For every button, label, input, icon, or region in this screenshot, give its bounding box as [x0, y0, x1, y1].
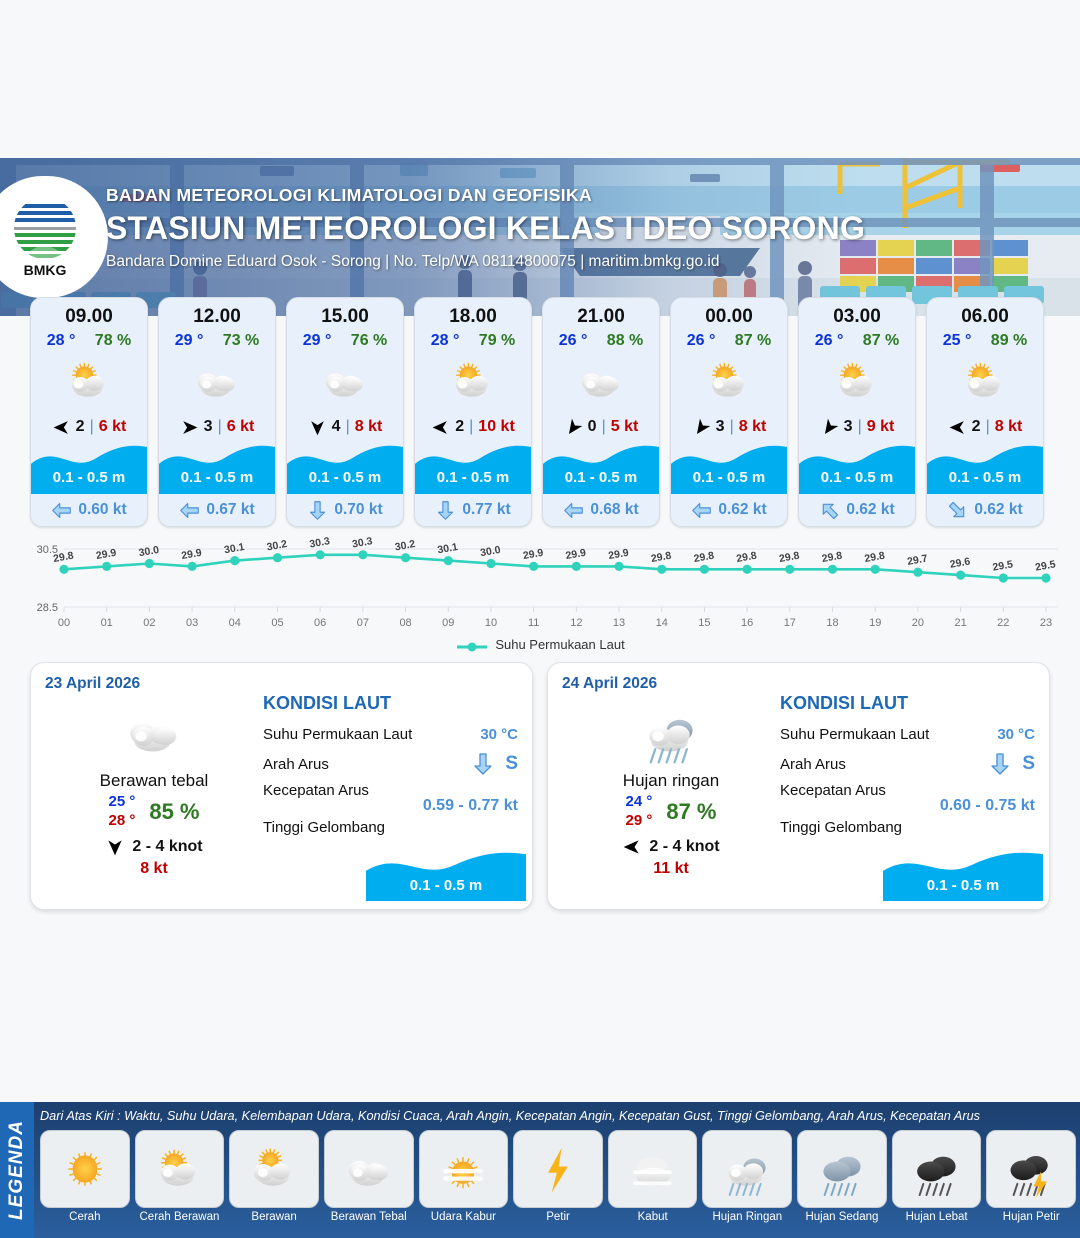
chart-legend: Suhu Permukaan Laut: [0, 637, 1080, 652]
current-direction-value: S: [1022, 753, 1035, 775]
current-direction-arrow-icon: [988, 752, 1012, 776]
card-time: 21.00: [543, 298, 659, 328]
legend-item-label: Udara Kabur: [419, 1211, 509, 1223]
card-current-row: 0.70 kt: [287, 494, 403, 526]
panel-date: 24 April 2026: [562, 675, 1035, 693]
wind-speed: 6 kt: [227, 418, 255, 436]
wave-height: 0.1 - 0.5 m: [927, 469, 1043, 486]
panel-humidity: 87 %: [666, 799, 716, 825]
weather-sun-cloud-icon: [415, 350, 531, 412]
card-current-row: 0.77 kt: [415, 494, 531, 526]
svg-text:30.2: 30.2: [266, 538, 288, 553]
card-wave-block: 0.1 - 0.5 m: [543, 442, 659, 494]
panel-condition: Berawan tebal: [49, 771, 259, 791]
wind-speed: 8 kt: [995, 418, 1023, 436]
hourly-card: 09.00 28 ° 78 % 2 | 6 kt 0.1 - 0.5 m 0.6…: [30, 297, 148, 527]
sea-conditions-title: KONDISI LAUT: [780, 693, 1035, 714]
weather-sun-cloud-icon: [671, 350, 787, 412]
legend-item: Petir: [513, 1130, 603, 1223]
svg-text:13: 13: [613, 617, 625, 629]
wind-speed: 8 kt: [739, 418, 767, 436]
svg-text:29.7: 29.7: [906, 553, 928, 568]
wind-speed: 9 kt: [867, 418, 895, 436]
wind-direction-arrow-icon: [105, 837, 125, 857]
chart-legend-marker: [455, 640, 489, 650]
svg-text:19: 19: [869, 617, 881, 629]
current-direction-value: S: [505, 753, 518, 775]
card-temperature: 28 °: [431, 332, 460, 350]
card-wave-block: 0.1 - 0.5 m: [415, 442, 531, 494]
svg-text:28.5: 28.5: [37, 602, 58, 614]
card-temperature: 26 °: [815, 332, 844, 350]
svg-text:10: 10: [485, 617, 497, 629]
card-temp-hum-row: 26 ° 87 %: [799, 328, 915, 350]
legend-item: Udara Kabur: [419, 1130, 509, 1223]
wind-direction-value: 3: [716, 418, 725, 436]
wave-height: 0.1 - 0.5 m: [159, 469, 275, 486]
panel-gust: 8 kt: [49, 860, 259, 878]
card-time: 09.00: [31, 298, 147, 328]
current-speed-label: Kecepatan Arus: [263, 782, 369, 799]
wind-direction-value: 2: [455, 418, 464, 436]
hourly-card: 03.00 26 ° 87 % 3 | 9 kt 0.1 - 0.5 m 0.6…: [798, 297, 916, 527]
wind-separator: |: [986, 418, 990, 436]
wind-separator: |: [90, 418, 94, 436]
legend-item-label: Hujan Petir: [986, 1211, 1076, 1223]
panel-temp-min: 24 °: [625, 793, 652, 812]
panel-temp-column: 24 ° 29 °: [625, 793, 652, 831]
current-speed-block: Kecepatan Arus 0.59 - 0.77 kt: [263, 779, 518, 815]
panel-date: 23 April 2026: [45, 675, 518, 693]
card-time: 03.00: [799, 298, 915, 328]
panel-wave-box: 0.1 - 0.5 m: [366, 849, 526, 901]
wave-label: Tinggi Gelombang: [780, 819, 902, 836]
card-time: 15.00: [287, 298, 403, 328]
current-speed: 0.68 kt: [590, 501, 638, 519]
card-temperature: 28 °: [47, 332, 76, 350]
legend-item-label: Berawan Tebal: [324, 1211, 414, 1223]
svg-text:29.9: 29.9: [95, 547, 117, 562]
card-humidity: 87 %: [863, 332, 899, 350]
wind-speed: 5 kt: [611, 418, 639, 436]
legend-item: Hujan Lebat: [892, 1130, 982, 1223]
card-humidity: 78 %: [95, 332, 131, 350]
card-temp-hum-row: 25 ° 89 %: [927, 328, 1043, 350]
sst-label: Suhu Permukaan Laut: [263, 726, 412, 743]
card-time: 12.00: [159, 298, 275, 328]
svg-text:29.8: 29.8: [52, 550, 74, 565]
wave-height: 0.1 - 0.5 m: [31, 469, 147, 486]
station-name: STASIUN METEOROLOGI KELAS I DEO SORONG: [106, 210, 986, 247]
legend-item: Cerah: [40, 1130, 130, 1223]
legend-bar: LEGENDA Dari Atas Kiri : Waktu, Suhu Uda…: [0, 1102, 1080, 1238]
panel-gust: 11 kt: [566, 860, 776, 878]
panel-sea-block: KONDISI LAUT Suhu Permukaan Laut 30 °C A…: [780, 693, 1035, 839]
sst-row: Suhu Permukaan Laut 30 °C: [263, 719, 518, 749]
svg-text:29.8: 29.8: [864, 550, 886, 565]
panel-wind-range: 2 - 4 knot: [649, 838, 719, 856]
svg-text:29.5: 29.5: [1034, 558, 1056, 573]
current-direction-arrow-icon: [51, 500, 72, 521]
current-direction-label: Arah Arus: [780, 756, 846, 773]
svg-text:29.9: 29.9: [180, 547, 202, 562]
sst-value: 30 °C: [480, 726, 518, 743]
svg-text:30.2: 30.2: [394, 538, 416, 553]
wave-height: 0.1 - 0.5 m: [415, 469, 531, 486]
wind-direction-arrow-icon: [431, 418, 450, 437]
card-wind-row: 2 | 6 kt: [31, 412, 147, 442]
current-speed: 0.60 kt: [78, 501, 126, 519]
card-temp-hum-row: 29 ° 73 %: [159, 328, 275, 350]
header-banner: BMKG BADAN METEOROLOGI KLIMATOLOGI DAN G…: [0, 158, 1080, 316]
svg-text:01: 01: [101, 617, 113, 629]
legend-item: Berawan Tebal: [324, 1130, 414, 1223]
panel-wave-box: 0.1 - 0.5 m: [883, 849, 1043, 901]
current-direction-row: Arah Arus S: [263, 749, 518, 779]
wind-direction-arrow-icon: [692, 418, 711, 437]
hourly-card: 12.00 29 ° 73 % 3 | 6 kt 0.1 - 0.5 m 0.6…: [158, 297, 276, 527]
current-speed-label: Kecepatan Arus: [780, 782, 886, 799]
card-wind-row: 2 | 8 kt: [927, 412, 1043, 442]
weather-sun-cloud-icon: [31, 350, 147, 412]
card-current-row: 0.62 kt: [927, 494, 1043, 526]
card-temperature: 29 °: [175, 332, 204, 350]
card-temperature: 29 °: [303, 332, 332, 350]
daily-panel: 24 April 2026 Hujan ringan 24 ° 29 ° 87 …: [547, 662, 1050, 910]
card-temp-hum-row: 28 ° 78 %: [31, 328, 147, 350]
card-temperature: 26 °: [687, 332, 716, 350]
card-temperature: 25 °: [943, 332, 972, 350]
sst-row: Suhu Permukaan Laut 30 °C: [780, 719, 1035, 749]
card-wind-row: 3 | 6 kt: [159, 412, 275, 442]
current-direction-arrow-icon: [179, 500, 200, 521]
svg-text:04: 04: [229, 617, 241, 629]
wind-direction-arrow-icon: [180, 418, 199, 437]
wind-direction-arrow-icon: [564, 418, 583, 437]
svg-text:00: 00: [58, 617, 70, 629]
current-direction-row: Arah Arus S: [780, 749, 1035, 779]
weather-bolt-icon: [513, 1130, 603, 1208]
current-direction-arrow-icon: [563, 500, 584, 521]
svg-text:06: 06: [314, 617, 326, 629]
wind-speed: 10 kt: [478, 418, 514, 436]
weather-cloud-icon: [159, 350, 275, 412]
wind-separator: |: [858, 418, 862, 436]
panel-wave-value: 0.1 - 0.5 m: [366, 877, 526, 894]
svg-text:09: 09: [442, 617, 454, 629]
card-wave-block: 0.1 - 0.5 m: [287, 442, 403, 494]
chart-legend-label: Suhu Permukaan Laut: [495, 637, 624, 652]
svg-text:29.9: 29.9: [607, 547, 629, 562]
svg-text:29.9: 29.9: [522, 547, 544, 562]
weather-rain-heavy-icon: [892, 1130, 982, 1208]
card-time: 06.00: [927, 298, 1043, 328]
bmkg-logo-text: BMKG: [24, 262, 67, 278]
wind-direction-value: 2: [76, 418, 85, 436]
wind-direction-arrow-icon: [622, 837, 642, 857]
legend-item: Hujan Petir: [986, 1130, 1076, 1223]
svg-text:29.8: 29.8: [778, 550, 800, 565]
wind-direction-value: 0: [588, 418, 597, 436]
current-direction-label: Arah Arus: [263, 756, 329, 773]
weather-cloud-icon: [324, 1130, 414, 1208]
card-temperature: 26 °: [559, 332, 588, 350]
panel-temp-max: 28 °: [108, 812, 135, 831]
card-current-row: 0.60 kt: [31, 494, 147, 526]
sst-chart: 30.528.529.80029.90130.00229.90330.10430…: [16, 535, 1064, 635]
card-humidity: 73 %: [223, 332, 259, 350]
card-time: 00.00: [671, 298, 787, 328]
svg-text:29.8: 29.8: [693, 550, 715, 565]
svg-text:29.6: 29.6: [949, 555, 971, 570]
wave-label-row: Tinggi Gelombang: [780, 815, 1035, 839]
panel-left-block: Hujan ringan 24 ° 29 ° 87 % 2 - 4 knot 1…: [566, 697, 776, 878]
panel-wind-row: 2 - 4 knot: [49, 837, 259, 857]
legend-item-label: Petir: [513, 1211, 603, 1223]
current-speed-value: 0.60 - 0.75 kt: [780, 797, 1035, 815]
card-current-row: 0.68 kt: [543, 494, 659, 526]
current-speed: 0.70 kt: [334, 501, 382, 519]
card-current-row: 0.62 kt: [799, 494, 915, 526]
svg-text:12: 12: [570, 617, 582, 629]
card-wave-block: 0.1 - 0.5 m: [927, 442, 1043, 494]
legend-item-label: Berawan: [229, 1211, 319, 1223]
bmkg-logo-mark: [13, 196, 77, 260]
legend-icon-row: Cerah Cerah Berawan Berawan Berawan Teba…: [40, 1130, 1076, 1223]
wind-direction-arrow-icon: [948, 418, 967, 437]
legend-item: Kabut: [608, 1130, 698, 1223]
weather-fog-icon: [608, 1130, 698, 1208]
panel-temp-max: 29 °: [625, 812, 652, 831]
hourly-card: 06.00 25 ° 89 % 2 | 8 kt 0.1 - 0.5 m 0.6…: [926, 297, 1044, 527]
card-humidity: 76 %: [351, 332, 387, 350]
wind-direction-arrow-icon: [52, 418, 71, 437]
svg-text:22: 22: [997, 617, 1009, 629]
wave-label-row: Tinggi Gelombang: [263, 815, 518, 839]
card-temp-hum-row: 28 ° 79 %: [415, 328, 531, 350]
legend-item-label: Hujan Sedang: [797, 1211, 887, 1223]
card-wave-block: 0.1 - 0.5 m: [799, 442, 915, 494]
weather-cloud-icon: [543, 350, 659, 412]
panel-temps-row: 25 ° 28 ° 85 %: [49, 793, 259, 831]
hourly-card: 15.00 29 ° 76 % 4 | 8 kt 0.1 - 0.5 m 0.7…: [286, 297, 404, 527]
weather-cloud-icon: [49, 697, 259, 767]
svg-text:30.3: 30.3: [351, 535, 373, 550]
card-humidity: 87 %: [735, 332, 771, 350]
current-direction-value-wrap: S: [988, 752, 1035, 776]
wind-direction-value: 3: [204, 418, 213, 436]
svg-text:02: 02: [143, 617, 155, 629]
svg-text:21: 21: [954, 617, 966, 629]
svg-text:29.8: 29.8: [821, 550, 843, 565]
card-wave-block: 0.1 - 0.5 m: [671, 442, 787, 494]
card-wind-row: 4 | 8 kt: [287, 412, 403, 442]
svg-text:30.0: 30.0: [479, 544, 501, 559]
current-direction-arrow-icon: [435, 500, 456, 521]
svg-text:30.0: 30.0: [138, 544, 160, 559]
svg-text:30.1: 30.1: [223, 541, 245, 556]
legend-side-label: LEGENDA: [0, 1102, 34, 1238]
wind-direction-arrow-icon: [308, 418, 327, 437]
panel-temps-row: 24 ° 29 ° 87 %: [566, 793, 776, 831]
card-wave-block: 0.1 - 0.5 m: [159, 442, 275, 494]
card-humidity: 79 %: [479, 332, 515, 350]
svg-text:29.9: 29.9: [565, 547, 587, 562]
wind-speed: 8 kt: [355, 418, 383, 436]
svg-text:29.8: 29.8: [736, 550, 758, 565]
legend-side-text: LEGENDA: [6, 1120, 28, 1220]
wave-height: 0.1 - 0.5 m: [799, 469, 915, 486]
svg-text:20: 20: [912, 617, 924, 629]
panel-sea-block: KONDISI LAUT Suhu Permukaan Laut 30 °C A…: [263, 693, 518, 839]
panel-condition: Hujan ringan: [566, 771, 776, 791]
svg-text:29.8: 29.8: [650, 550, 672, 565]
card-temp-hum-row: 26 ° 88 %: [543, 328, 659, 350]
card-current-row: 0.62 kt: [671, 494, 787, 526]
panel-wind-range: 2 - 4 knot: [132, 838, 202, 856]
svg-text:29.5: 29.5: [992, 558, 1014, 573]
current-direction-arrow-icon: [471, 752, 495, 776]
svg-text:16: 16: [741, 617, 753, 629]
panel-temp-min: 25 °: [108, 793, 135, 812]
card-time: 18.00: [415, 298, 531, 328]
svg-text:18: 18: [826, 617, 838, 629]
current-speed: 0.62 kt: [974, 501, 1022, 519]
wave-height: 0.1 - 0.5 m: [543, 469, 659, 486]
card-humidity: 88 %: [607, 332, 643, 350]
svg-text:11: 11: [528, 617, 539, 629]
card-wind-row: 0 | 5 kt: [543, 412, 659, 442]
svg-text:08: 08: [399, 617, 411, 629]
card-wave-block: 0.1 - 0.5 m: [31, 442, 147, 494]
svg-text:30.3: 30.3: [309, 535, 331, 550]
wind-direction-arrow-icon: [820, 418, 839, 437]
weather-sun-cloud-icon: [799, 350, 915, 412]
current-speed: 0.77 kt: [462, 501, 510, 519]
svg-text:03: 03: [186, 617, 198, 629]
hourly-forecast-row: 09.00 28 ° 78 % 2 | 6 kt 0.1 - 0.5 m 0.6…: [0, 297, 1080, 527]
legend-item-label: Cerah: [40, 1211, 130, 1223]
current-speed: 0.62 kt: [718, 501, 766, 519]
svg-text:15: 15: [698, 617, 710, 629]
current-direction-arrow-icon: [947, 500, 968, 521]
panel-wind-row: 2 - 4 knot: [566, 837, 776, 857]
current-direction-arrow-icon: [819, 500, 840, 521]
weather-haze-icon: [419, 1130, 509, 1208]
wind-direction-value: 4: [332, 418, 341, 436]
card-wind-row: 3 | 9 kt: [799, 412, 915, 442]
wind-separator: |: [730, 418, 734, 436]
weather-sun-cloud-icon: [135, 1130, 225, 1208]
wave-height: 0.1 - 0.5 m: [671, 469, 787, 486]
weather-sun-cloud-more-icon: [229, 1130, 319, 1208]
card-humidity: 89 %: [991, 332, 1027, 350]
weather-rain-medium-icon: [797, 1130, 887, 1208]
legend-item-label: Kabut: [608, 1211, 698, 1223]
contact-info: Bandara Domine Eduard Osok - Sorong | No…: [106, 253, 986, 271]
hourly-card: 18.00 28 ° 79 % 2 | 10 kt 0.1 - 0.5 m 0.…: [414, 297, 532, 527]
current-direction-arrow-icon: [307, 500, 328, 521]
current-speed-block: Kecepatan Arus 0.60 - 0.75 kt: [780, 779, 1035, 815]
weather-sun-cloud-icon: [927, 350, 1043, 412]
weather-sun-icon: [40, 1130, 130, 1208]
hourly-card: 21.00 26 ° 88 % 0 | 5 kt 0.1 - 0.5 m 0.6…: [542, 297, 660, 527]
legend-item-label: Hujan Lebat: [892, 1211, 982, 1223]
sst-label: Suhu Permukaan Laut: [780, 726, 929, 743]
header-text-block: BADAN METEOROLOGI KLIMATOLOGI DAN GEOFIS…: [106, 185, 986, 271]
legend-note: Dari Atas Kiri : Waktu, Suhu Udara, Kele…: [40, 1109, 1074, 1123]
legend-item: Cerah Berawan: [135, 1130, 225, 1223]
legend-item: Hujan Ringan: [702, 1130, 792, 1223]
wind-separator: |: [469, 418, 473, 436]
daily-panels: 23 April 2026 Berawan tebal 25 ° 28 ° 85…: [0, 652, 1080, 910]
panel-wave-value: 0.1 - 0.5 m: [883, 877, 1043, 894]
svg-text:05: 05: [271, 617, 283, 629]
card-current-row: 0.67 kt: [159, 494, 275, 526]
current-speed: 0.62 kt: [846, 501, 894, 519]
wave-height: 0.1 - 0.5 m: [287, 469, 403, 486]
svg-text:17: 17: [784, 617, 796, 629]
weather-cloud-icon: [287, 350, 403, 412]
weather-rain-light-icon: [702, 1130, 792, 1208]
wind-separator: |: [218, 418, 222, 436]
panel-humidity: 85 %: [149, 799, 199, 825]
legend-item-label: Hujan Ringan: [702, 1211, 792, 1223]
current-speed: 0.67 kt: [206, 501, 254, 519]
wind-direction-value: 2: [972, 418, 981, 436]
agency-name: BADAN METEOROLOGI KLIMATOLOGI DAN GEOFIS…: [106, 185, 986, 206]
legend-item: Hujan Sedang: [797, 1130, 887, 1223]
weather-rain-storm-icon: [986, 1130, 1076, 1208]
current-speed-value: 0.59 - 0.77 kt: [263, 797, 518, 815]
svg-text:14: 14: [656, 617, 668, 629]
svg-text:30.1: 30.1: [437, 541, 459, 556]
svg-text:23: 23: [1040, 617, 1052, 629]
wind-speed: 6 kt: [99, 418, 127, 436]
card-temp-hum-row: 26 ° 87 %: [671, 328, 787, 350]
wind-separator: |: [346, 418, 350, 436]
hourly-card: 00.00 26 ° 87 % 3 | 8 kt 0.1 - 0.5 m 0.6…: [670, 297, 788, 527]
panel-left-block: Berawan tebal 25 ° 28 ° 85 % 2 - 4 knot …: [49, 697, 259, 878]
sst-value: 30 °C: [997, 726, 1035, 743]
card-wind-row: 2 | 10 kt: [415, 412, 531, 442]
wave-label: Tinggi Gelombang: [263, 819, 385, 836]
wind-separator: |: [602, 418, 606, 436]
current-direction-arrow-icon: [691, 500, 712, 521]
card-wind-row: 3 | 8 kt: [671, 412, 787, 442]
panel-temp-column: 25 ° 28 °: [108, 793, 135, 831]
card-temp-hum-row: 29 ° 76 %: [287, 328, 403, 350]
legend-item: Berawan: [229, 1130, 319, 1223]
sea-conditions-title: KONDISI LAUT: [263, 693, 518, 714]
svg-text:07: 07: [357, 617, 369, 629]
wind-direction-value: 3: [844, 418, 853, 436]
daily-panel: 23 April 2026 Berawan tebal 25 ° 28 ° 85…: [30, 662, 533, 910]
current-direction-value-wrap: S: [471, 752, 518, 776]
weather-rain-light-icon: [566, 697, 776, 767]
legend-item-label: Cerah Berawan: [135, 1211, 225, 1223]
